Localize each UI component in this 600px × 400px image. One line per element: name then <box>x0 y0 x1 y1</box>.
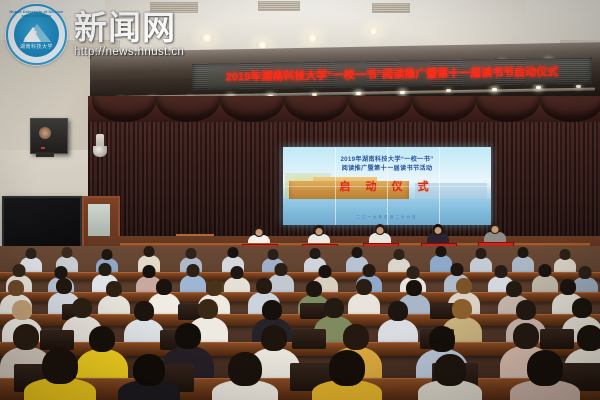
audience-head <box>363 264 376 277</box>
stage-spot-7 <box>356 92 361 95</box>
audience-head <box>275 263 288 276</box>
downlight-3 <box>306 34 319 42</box>
audience-person <box>312 350 382 400</box>
audience-head <box>206 280 222 296</box>
audience-head <box>451 263 464 276</box>
stage-spot-10 <box>492 88 497 91</box>
ceiling-vent-mid <box>258 1 300 11</box>
side-door-window <box>88 204 110 236</box>
audience-head <box>407 266 420 279</box>
ceiling-vent-right <box>372 3 410 13</box>
audience-head <box>8 280 24 296</box>
audience-head <box>102 249 113 260</box>
audience-head <box>56 278 72 294</box>
audience-head <box>527 350 563 386</box>
audience-head <box>42 348 78 384</box>
audience-person <box>212 352 278 400</box>
site-name: 新闻网 <box>74 11 184 44</box>
audience-head <box>262 300 282 320</box>
audience-head <box>156 279 172 295</box>
audience-head <box>436 246 447 257</box>
audience-head <box>310 248 321 259</box>
screen-seam-h <box>283 186 491 187</box>
audience-person <box>510 350 580 400</box>
audience-head <box>268 249 279 260</box>
audience-head <box>13 264 26 277</box>
audience-head <box>394 249 405 260</box>
audience-head <box>429 326 455 352</box>
audience-head <box>231 266 244 279</box>
audience-head <box>516 300 536 320</box>
site-url: http://news.hnust.cn <box>74 47 184 59</box>
audience-head <box>324 298 344 318</box>
stage-spot-8 <box>400 91 405 94</box>
audience-head <box>343 324 369 350</box>
stage-led-screen: 2019年湖南科技大学“一校一书” 阅读推广暨第十一届读书节活动 启 动 仪 式… <box>283 147 491 225</box>
audience-head <box>560 279 576 295</box>
hnust-news-seal-icon: 湖南科技大学 Hunan University of Science and T… <box>6 4 67 65</box>
audience-head <box>228 352 262 386</box>
speaker-bracket <box>36 152 54 157</box>
audience-head <box>175 323 201 349</box>
presidium-3-face <box>377 227 384 234</box>
audience-person <box>512 247 534 273</box>
ceiling-ptz-camera-icon <box>93 146 107 157</box>
presidium-1-face <box>256 229 263 236</box>
led-banner-text: 2019年湖南科技大学“一校一书”阅读推广暨第十一届读书节启动仪式 <box>192 63 592 85</box>
presidium-5-face <box>492 226 499 233</box>
audience-head <box>388 301 408 321</box>
audience-head <box>352 247 363 258</box>
audience-head <box>228 247 239 258</box>
downlight-1 <box>200 34 214 42</box>
audience-head <box>506 281 522 297</box>
audience-head <box>72 298 92 318</box>
presidium-4-face <box>435 227 442 234</box>
audience-head <box>577 325 600 351</box>
audience-head <box>452 299 472 319</box>
audience-head <box>261 325 287 351</box>
watermark-text: 新闻网 http://news.hnust.cn <box>74 11 184 59</box>
audience-head <box>12 300 32 320</box>
audience-head <box>518 247 529 258</box>
seal-chinese-name: 湖南科技大学 <box>14 43 59 50</box>
audience-head <box>133 354 165 386</box>
stage-spot-9 <box>446 89 451 92</box>
audience-head <box>186 248 197 259</box>
audience-head <box>306 281 322 297</box>
audience-head <box>456 278 472 294</box>
speaker-cone-icon <box>39 127 51 139</box>
wall-speaker <box>30 118 68 154</box>
seal-english-name: Hunan University of Science and Technolo… <box>8 10 65 18</box>
audience-head <box>256 278 272 294</box>
seal-inner-disc: 湖南科技大学 <box>14 12 59 57</box>
audience-head <box>187 264 200 277</box>
stage-spot-12 <box>576 85 581 88</box>
audience-person <box>418 354 482 400</box>
stage-spot-11 <box>536 86 541 89</box>
audience-head <box>144 246 155 257</box>
downlight-5 <box>368 28 379 35</box>
audience-head <box>106 281 122 297</box>
photo-canvas: 2019年湖南科技大学“一校一书”阅读推广暨第十一届读书节启动仪式 2019年湖… <box>0 0 600 400</box>
audience-area <box>0 246 600 400</box>
audience-head <box>13 324 39 350</box>
audience-person <box>24 348 96 400</box>
audience-person <box>118 354 180 400</box>
audience-head <box>99 263 112 276</box>
seal-mountain-icon <box>22 23 52 43</box>
audience-head <box>434 354 466 386</box>
audience-head <box>406 280 422 296</box>
watermark: 湖南科技大学 Hunan University of Science and T… <box>6 4 184 65</box>
audience-head <box>134 301 154 321</box>
audience-head <box>319 265 332 278</box>
audience-head <box>560 249 571 260</box>
audience-head <box>579 266 592 279</box>
audience-head <box>476 248 487 259</box>
presidium-2-face <box>316 228 323 235</box>
audience-head <box>198 299 218 319</box>
audience-head <box>513 323 539 349</box>
audience-head <box>143 265 156 278</box>
audience-head <box>356 279 372 295</box>
audience-head <box>62 247 73 258</box>
side-display-monitor <box>2 196 82 248</box>
speaker-led-icon <box>41 147 45 149</box>
audience-head <box>539 264 552 277</box>
audience-head <box>495 265 508 278</box>
audience-head <box>26 248 37 259</box>
audience-head <box>329 350 365 386</box>
audience-head <box>572 298 592 318</box>
